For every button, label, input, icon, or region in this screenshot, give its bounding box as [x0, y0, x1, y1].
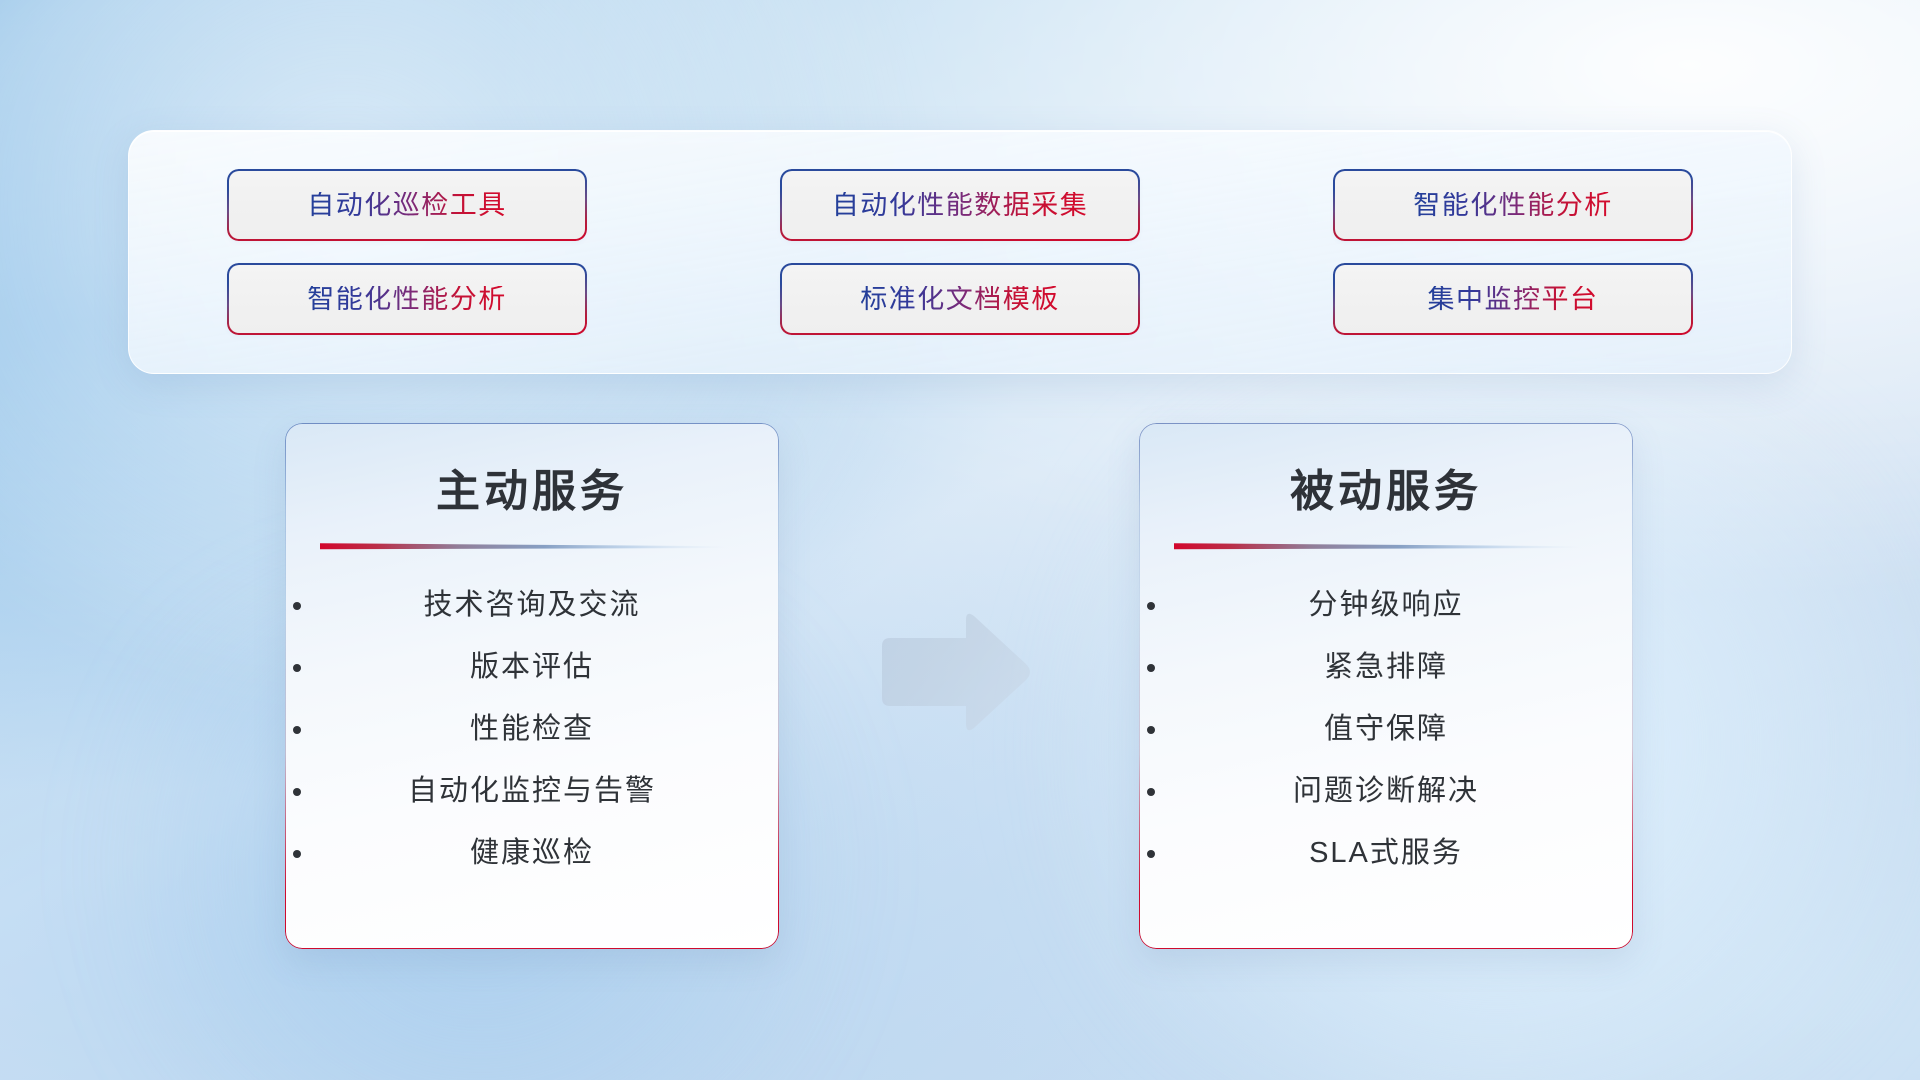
- tag-smart-perf-analysis-2[interactable]: 智能化性能分析: [229, 265, 585, 333]
- tag-label: 智能化性能分析: [307, 286, 507, 313]
- gradient-divider-icon: [320, 542, 728, 550]
- tag-auto-perf-collection[interactable]: 自动化性能数据采集: [782, 171, 1138, 239]
- gradient-divider-icon: [1174, 542, 1582, 550]
- proactive-service-card[interactable]: 主动服务 技术咨询及交流 版本评估 性能检查: [286, 424, 778, 948]
- tag-label: 标准化文档模板: [860, 286, 1060, 313]
- diagram-stage: 自动化巡检工具 自动化性能数据采集 智能化性能分析 智能化性能分析 标准化文档模…: [0, 0, 1920, 1080]
- list-item[interactable]: 技术咨询及交流: [316, 590, 748, 622]
- tag-label: 自动化性能数据采集: [832, 192, 1089, 219]
- list-item[interactable]: SLA式服务: [1170, 838, 1602, 870]
- list-item[interactable]: 问题诊断解决: [1170, 776, 1602, 808]
- proactive-service-list: 技术咨询及交流 版本评估 性能检查 自动化监控与告警 健康巡检: [316, 558, 748, 920]
- reactive-service-list: 分钟级响应 紧急排障 值守保障 问题诊断解决 SLA式服务: [1170, 558, 1602, 920]
- tag-label: 智能化性能分析: [1413, 192, 1613, 219]
- card-title: 主动服务: [316, 468, 748, 516]
- list-item[interactable]: 版本评估: [316, 652, 748, 684]
- card-title: 被动服务: [1170, 468, 1602, 516]
- list-item[interactable]: 分钟级响应: [1170, 590, 1602, 622]
- tag-label: 自动化巡检工具: [307, 192, 507, 219]
- list-item[interactable]: 健康巡检: [316, 838, 748, 870]
- list-item[interactable]: 紧急排障: [1170, 652, 1602, 684]
- capability-tags-row-2: 智能化性能分析 标准化文档模板 集中监控平台: [229, 265, 1691, 333]
- card-divider-wrapper: [1174, 542, 1582, 550]
- tag-central-monitor-platform[interactable]: 集中监控平台: [1335, 265, 1691, 333]
- capability-tags-panel: 自动化巡检工具 自动化性能数据采集 智能化性能分析 智能化性能分析 标准化文档模…: [128, 130, 1792, 374]
- list-item[interactable]: 性能检查: [316, 714, 748, 746]
- list-item[interactable]: 自动化监控与告警: [316, 776, 748, 808]
- capability-tags-row-1: 自动化巡检工具 自动化性能数据采集 智能化性能分析: [229, 171, 1691, 239]
- tag-auto-inspection-tool[interactable]: 自动化巡检工具: [229, 171, 585, 239]
- tag-standard-doc-template[interactable]: 标准化文档模板: [782, 265, 1138, 333]
- reactive-service-card[interactable]: 被动服务 分钟级响应 紧急排障 值守保障: [1140, 424, 1632, 948]
- list-item[interactable]: 值守保障: [1170, 714, 1602, 746]
- tag-label: 集中监控平台: [1428, 286, 1599, 313]
- card-divider-wrapper: [320, 542, 728, 550]
- tag-smart-perf-analysis-1[interactable]: 智能化性能分析: [1335, 171, 1691, 239]
- flow-arrow-right-icon: [874, 610, 1034, 736]
